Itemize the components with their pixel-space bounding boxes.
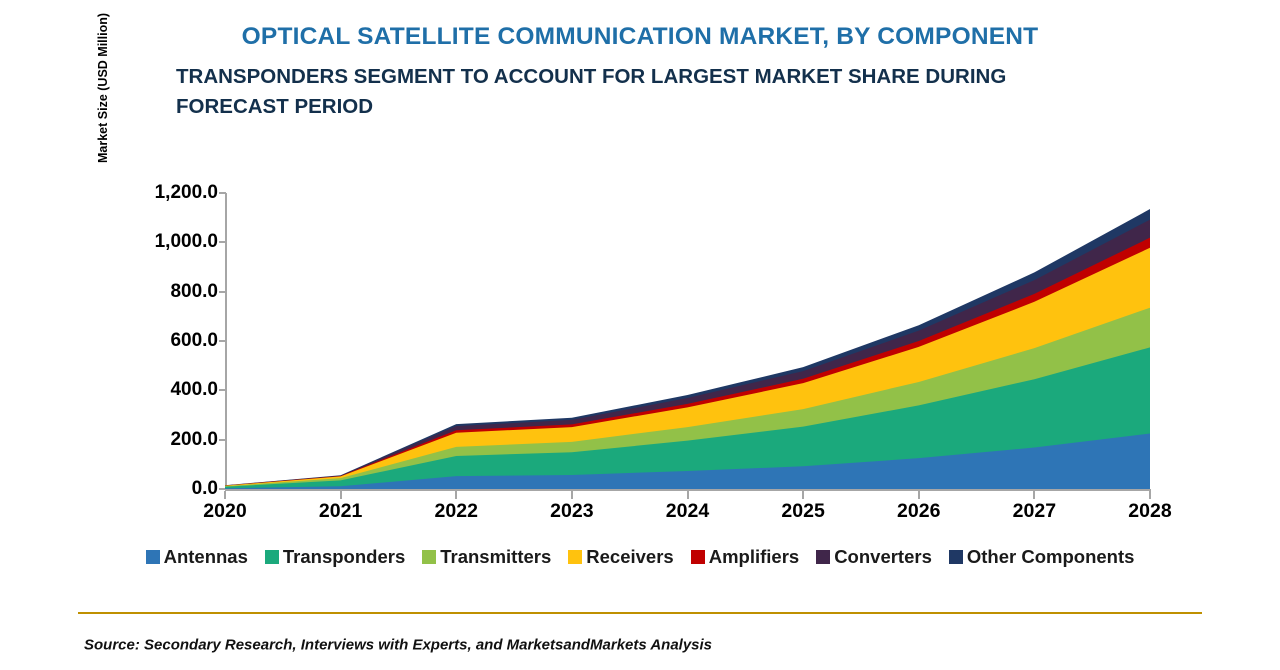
legend-label: Transponders xyxy=(283,546,405,568)
chart-area: 0.0200.0400.0600.0800.01,000.01,200.0 20… xyxy=(0,170,1280,530)
y-tick-label: 1,000.0 xyxy=(155,231,218,253)
legend-item-converters[interactable]: Converters xyxy=(816,546,932,568)
x-tick-label: 2028 xyxy=(1128,500,1171,523)
y-tick-label: 800.0 xyxy=(170,281,218,303)
x-tick-mark xyxy=(455,491,457,499)
legend-item-other-components[interactable]: Other Components xyxy=(949,546,1135,568)
stacked-area-plot xyxy=(225,193,1150,489)
page-title: OPTICAL SATELLITE COMMUNICATION MARKET, … xyxy=(0,22,1280,52)
legend-label: Antennas xyxy=(164,546,248,568)
x-tick-mark xyxy=(1149,491,1151,499)
x-tick-label: 2024 xyxy=(666,500,709,523)
legend-label: Transmitters xyxy=(440,546,551,568)
legend-swatch-icon xyxy=(816,550,830,564)
y-tick-label: 200.0 xyxy=(170,429,218,451)
legend-swatch-icon xyxy=(265,550,279,564)
page-subtitle: TRANSPONDERS SEGMENT TO ACCOUNT FOR LARG… xyxy=(164,62,1116,122)
x-tick-mark xyxy=(687,491,689,499)
y-tick-label: 0.0 xyxy=(192,478,218,500)
legend-item-transponders[interactable]: Transponders xyxy=(265,546,405,568)
x-tick-label: 2026 xyxy=(897,500,940,523)
legend-label: Other Components xyxy=(967,546,1135,568)
legend-label: Converters xyxy=(834,546,932,568)
legend-swatch-icon xyxy=(568,550,582,564)
x-tick-mark xyxy=(224,491,226,499)
x-tick-mark xyxy=(802,491,804,499)
x-tick-mark xyxy=(571,491,573,499)
legend-swatch-icon xyxy=(949,550,963,564)
legend-swatch-icon xyxy=(422,550,436,564)
legend-item-antennas[interactable]: Antennas xyxy=(146,546,248,568)
x-tick-mark xyxy=(1033,491,1035,499)
legend-swatch-icon xyxy=(691,550,705,564)
legend-item-receivers[interactable]: Receivers xyxy=(568,546,673,568)
source-divider xyxy=(78,612,1202,614)
y-tick-label: 600.0 xyxy=(170,330,218,352)
y-tick-label: 400.0 xyxy=(170,379,218,401)
x-tick-mark xyxy=(340,491,342,499)
legend-item-amplifiers[interactable]: Amplifiers xyxy=(691,546,799,568)
x-tick-label: 2027 xyxy=(1013,500,1056,523)
legend-item-transmitters[interactable]: Transmitters xyxy=(422,546,551,568)
legend-label: Receivers xyxy=(586,546,673,568)
chart-page: OPTICAL SATELLITE COMMUNICATION MARKET, … xyxy=(0,0,1280,670)
x-tick-label: 2025 xyxy=(781,500,824,523)
x-tick-label: 2023 xyxy=(550,500,593,523)
x-tick-mark xyxy=(918,491,920,499)
legend-label: Amplifiers xyxy=(709,546,799,568)
x-tick-label: 2020 xyxy=(203,500,246,523)
y-tick-label: 1,200.0 xyxy=(155,182,218,204)
x-tick-label: 2021 xyxy=(319,500,362,523)
source-note: Source: Secondary Research, Interviews w… xyxy=(84,637,712,654)
x-tick-label: 2022 xyxy=(435,500,478,523)
chart-legend: AntennasTranspondersTransmittersReceiver… xyxy=(0,546,1280,568)
title-block: OPTICAL SATELLITE COMMUNICATION MARKET, … xyxy=(0,22,1280,122)
y-axis-ticks: 0.0200.0400.0600.0800.01,000.01,200.0 xyxy=(0,170,218,513)
y-axis-label: Market Size (USD Million) xyxy=(96,147,110,163)
legend-swatch-icon xyxy=(146,550,160,564)
